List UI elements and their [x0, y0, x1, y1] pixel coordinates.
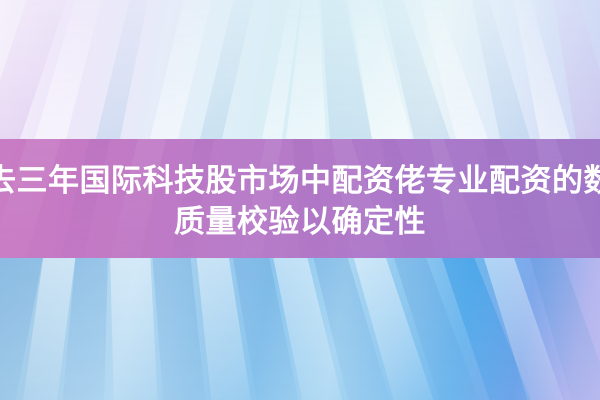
promo-banner: 过去三年国际科技股市场中配资佬专业配资的数据 质量校验以确定性 — [0, 0, 600, 400]
background-top-wedges — [0, 0, 600, 139]
background-bottom-wedges — [0, 258, 600, 400]
banner-title: 过去三年国际科技股市场中配资佬专业配资的数据 质量校验以确定性 — [0, 139, 600, 258]
banner-title-line-2: 质量校验以确定性 — [174, 201, 426, 242]
banner-title-line-1: 过去三年国际科技股市场中配资佬专业配资的数据 — [0, 160, 600, 201]
